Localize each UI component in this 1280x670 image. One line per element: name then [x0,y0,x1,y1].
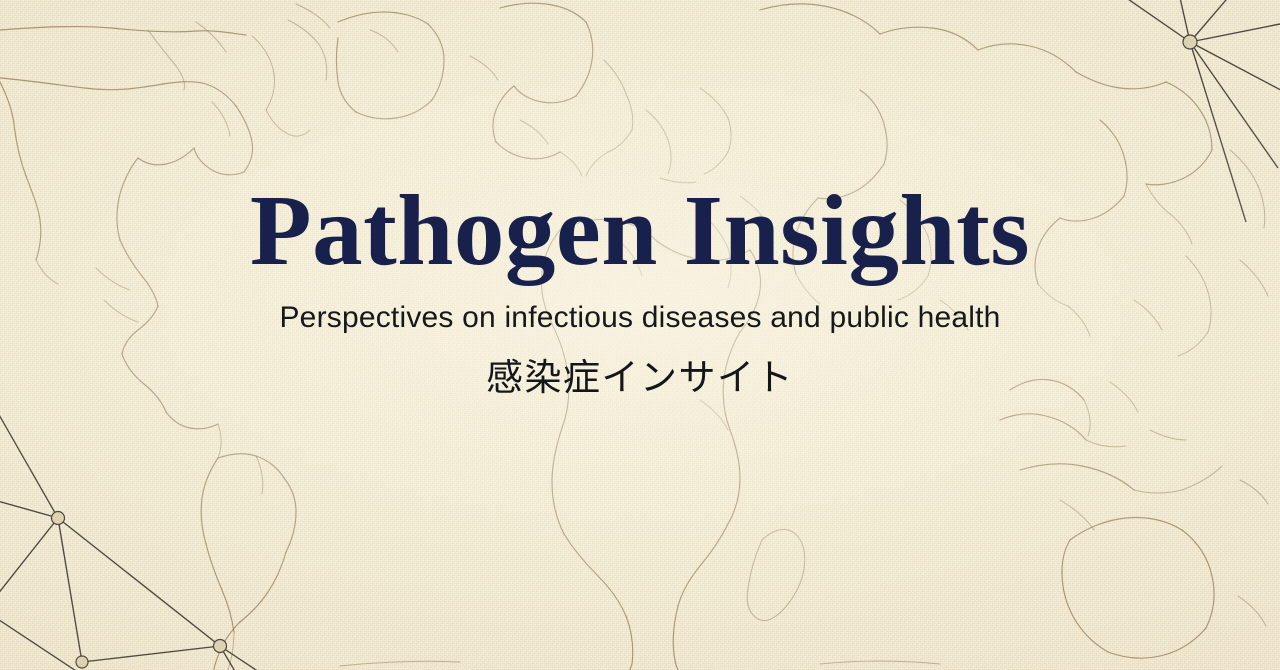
page-title: Pathogen Insights [250,180,1030,281]
banner-text-stack: Pathogen Insights Perspectives on infect… [0,0,1280,670]
page-subtitle: Perspectives on infectious diseases and … [279,303,1000,333]
page-subtitle-japanese: 感染症インサイト [486,359,794,396]
hero-banner: Pathogen Insights Perspectives on infect… [0,0,1280,670]
